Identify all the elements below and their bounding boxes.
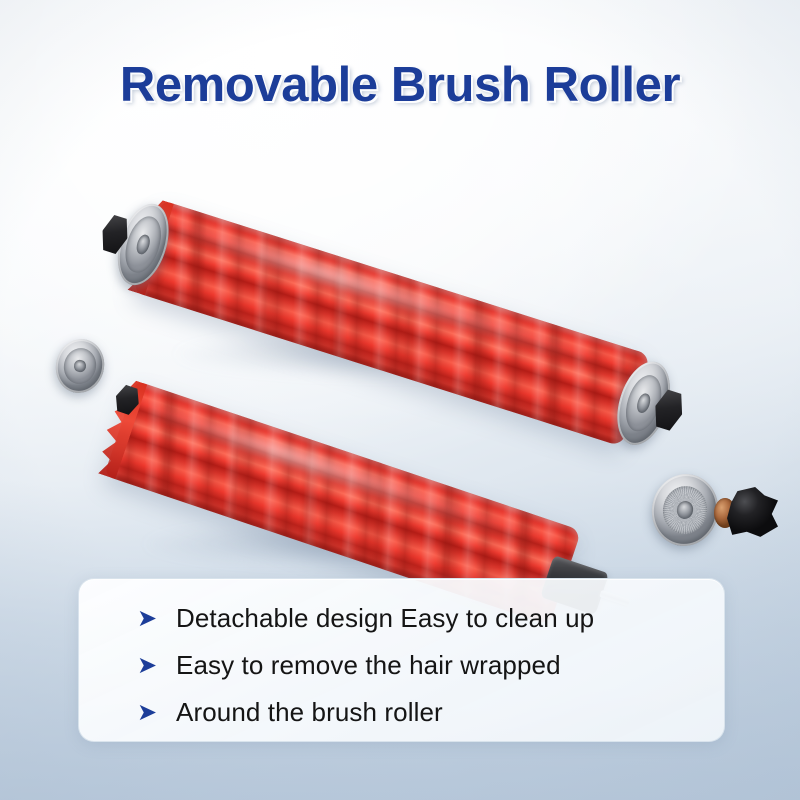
bullet-arrow-icon: ➤ xyxy=(137,701,167,725)
feature-text-1: Detachable design Easy to clean up xyxy=(176,603,594,634)
feature-item-2: ➤ Easy to remove the hair wrapped xyxy=(137,642,724,689)
end-cap-detached-right xyxy=(645,468,725,552)
feature-text-2: Easy to remove the hair wrapped xyxy=(176,650,561,681)
features-panel: ➤ Detachable design Easy to clean up ➤ E… xyxy=(78,578,725,742)
feature-item-1: ➤ Detachable design Easy to clean up xyxy=(137,595,724,642)
end-cap-detached-left xyxy=(50,334,110,398)
bullet-arrow-icon: ➤ xyxy=(137,607,167,631)
end-connector-detached xyxy=(726,487,778,539)
feature-item-3: ➤ Around the brush roller xyxy=(137,689,724,736)
bullet-arrow-icon: ➤ xyxy=(137,654,167,678)
feature-text-3: Around the brush roller xyxy=(176,697,443,728)
product-image-canvas: Removable Brush Roller xyxy=(0,0,800,800)
